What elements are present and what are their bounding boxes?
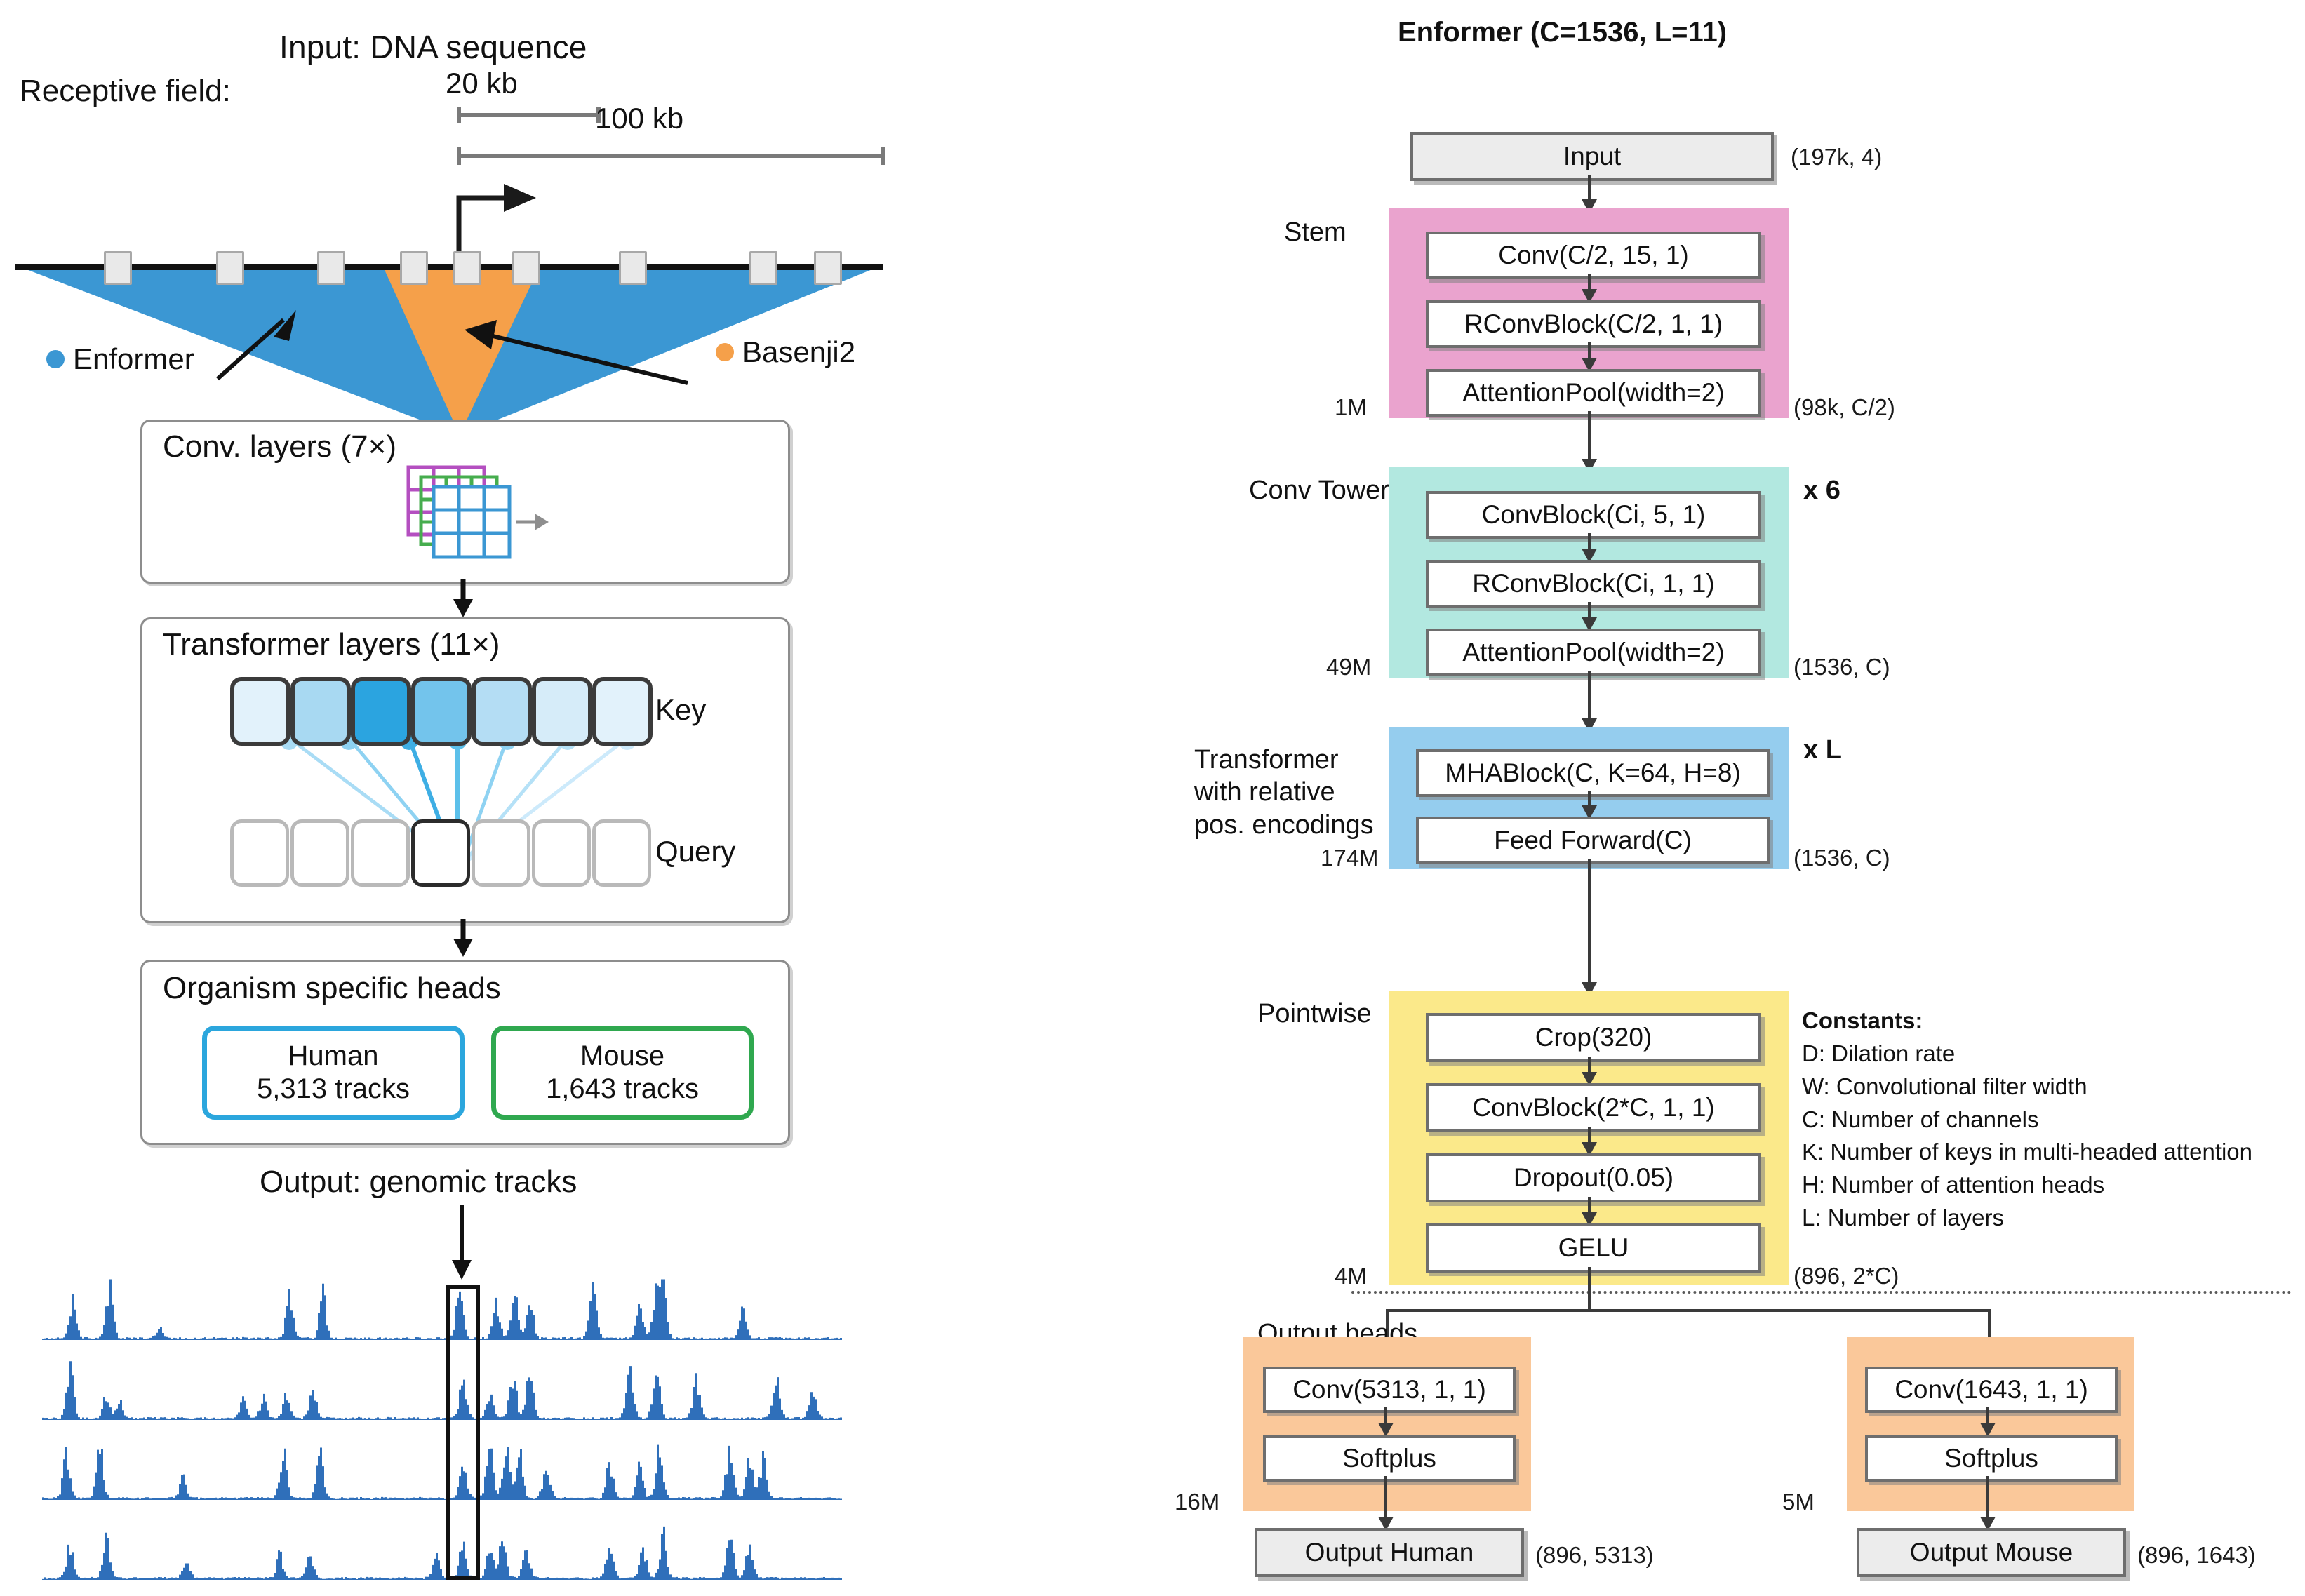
edge-split-bar [1386,1309,1991,1312]
node-convtower-1[interactable]: RConvBlock(Ci, 1, 1) [1426,560,1761,608]
arrow-to-tracks-icon [446,1205,477,1282]
params-pointwise: 4M [1335,1263,1367,1289]
mouse-head-pill[interactable]: Mouse 1,643 tracks [491,1026,754,1120]
node-human-head-0[interactable]: Conv(5313, 1, 1) [1263,1367,1516,1413]
params-human-head: 16M [1175,1489,1220,1515]
edge-pointwise-to-split [1588,1267,1591,1310]
node-mouse-head-0[interactable]: Conv(1643, 1, 1) [1865,1367,2118,1413]
key-label: Key [655,693,706,727]
node-pointwise-2[interactable]: Dropout(0.05) [1426,1153,1761,1202]
human-head-tracks: 5,313 tracks [257,1073,410,1106]
node-transformer-0[interactable]: MHABlock(C, K=64, H=8) [1416,749,1770,797]
left-panel: Input: DNA sequence Receptive field: 20 … [0,0,1151,1596]
legend-basenji2: Basenji2 [716,335,855,369]
query-label: Query [655,835,735,869]
genomic-track-0 [42,1280,842,1341]
node-transformer-1[interactable]: Feed Forward(C) [1416,817,1770,864]
genomic-track-1 [42,1361,842,1420]
scale-20kb-label: 20 kb [446,67,518,100]
edge-transformer-to-pointwise [1588,859,1591,989]
organism-heads-title: Organism specific heads [163,971,501,1006]
scale-100kb-label: 100 kb [595,102,683,135]
params-conv-tower: 49M [1326,654,1371,680]
scale-20kb-bar [455,104,606,128]
node-stem-2[interactable]: AttentionPool(width=2) [1426,369,1761,417]
node-stem-1[interactable]: RConvBlock(C/2, 1, 1) [1426,300,1761,348]
group-transformer-label: Transformer with relative pos. encodings [1194,744,1374,841]
node-pointwise-0[interactable]: Crop(320) [1426,1013,1761,1062]
output-heads-separator [1351,1291,2292,1294]
arrowhead-mouse-head-0-1-icon [1980,1423,1996,1437]
mouse-head-tracks: 1,643 tracks [546,1073,699,1106]
scale-100kb-bar [455,144,890,168]
group-stem-label: Stem [1284,216,1347,248]
node-output-human[interactable]: Output Human [1255,1528,1524,1577]
group-conv-tower-label: Conv Tower [1249,474,1389,507]
basenji2-pointer-arrow-icon [449,314,695,398]
params-mouse-head: 5M [1782,1489,1815,1515]
enformer-legend-label: Enformer [73,342,194,375]
human-head-organism: Human [288,1040,379,1073]
arrow-conv-to-transformer-icon [448,579,479,619]
genomic-tracks-plot [42,1275,842,1584]
basenji2-legend-dot [716,343,734,361]
constants-title: Constants: [1802,1007,1923,1033]
tss-arrow-icon [449,174,547,262]
shape-conv-tower: (1536, C) [1793,654,1890,680]
track-highlight-box [446,1285,480,1580]
genomic-track-3 [42,1527,842,1580]
constant-2: C: Number of channels [1802,1106,2039,1132]
constant-0: D: Dilation rate [1802,1040,1955,1066]
input-dna-title: Input: DNA sequence [279,28,587,66]
group-pointwise-label: Pointwise [1257,998,1372,1030]
mouse-head-organism: Mouse [580,1040,664,1073]
node-stem-0[interactable]: Conv(C/2, 15, 1) [1426,232,1761,279]
node-convtower-2[interactable]: AttentionPool(width=2) [1426,629,1761,676]
node-input[interactable]: Input [1410,132,1774,181]
output-tracks-title: Output: genomic tracks [260,1165,577,1200]
shape-transformer: (1536, C) [1793,845,1890,871]
params-transformer: 174M [1321,845,1379,871]
node-human-head-1[interactable]: Softplus [1263,1435,1516,1482]
repeat-conv-tower: x 6 [1803,476,1840,506]
node-pointwise-3[interactable]: GELU [1426,1223,1761,1273]
enformer-pointer-arrow-icon [211,303,309,387]
group-transformer-line-0: Transformer with relative pos. encodings [1194,745,1374,840]
repeat-transformer: x L [1803,735,1842,765]
shape-stem: (98k, C/2) [1793,394,1895,421]
shape-output-human: (896, 5313) [1535,1542,1654,1569]
enformer-panel-title: Enformer (C=1536, L=11) [1398,17,1727,48]
conv-filter-stack-icon [400,463,561,570]
enformer-legend-dot [46,350,65,368]
constant-5: L: Number of layers [1802,1205,2004,1230]
legend-enformer: Enformer [46,342,194,376]
shape-input: (197k, 4) [1791,144,1882,170]
params-stem: 1M [1335,394,1367,421]
edge-stem-to-convtower [1588,411,1591,466]
node-output-mouse[interactable]: Output Mouse [1857,1528,2126,1577]
constant-3: K: Number of keys in multi-headed attent… [1802,1139,2252,1165]
right-panel: Enformer (C=1536, L=11) Input (197k, 4) … [1151,0,2305,1596]
basenji2-legend-label: Basenji2 [742,335,855,368]
receptive-field-label: Receptive field: [20,74,231,109]
shape-output-mouse: (896, 1643) [2137,1542,2256,1569]
node-pointwise-1[interactable]: ConvBlock(2*C, 1, 1) [1426,1083,1761,1132]
edge-convtower-to-transformer [1588,671,1591,725]
arrowhead-human-head-0-1-icon [1378,1423,1394,1437]
node-mouse-head-1[interactable]: Softplus [1865,1435,2118,1482]
conv-layers-title: Conv. layers (7×) [163,429,396,464]
genomic-track-2 [42,1445,842,1500]
node-convtower-0[interactable]: ConvBlock(Ci, 5, 1) [1426,491,1761,539]
constant-4: H: Number of attention heads [1802,1172,2104,1198]
constants-legend: Constants: D: Dilation rate W: Convoluti… [1802,1005,2252,1235]
constant-1: W: Convolutional filter width [1802,1073,2087,1099]
human-head-pill[interactable]: Human 5,313 tracks [202,1026,465,1120]
arrow-transformer-to-heads-icon [448,919,479,958]
shape-pointwise: (896, 2*C) [1793,1263,1899,1289]
